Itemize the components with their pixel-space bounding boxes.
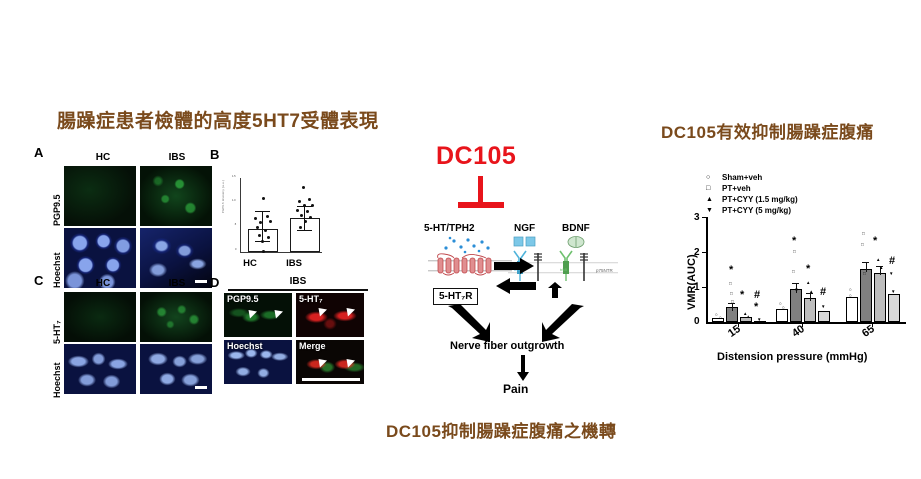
panel-c-row-5ht7: 5-HT₇: [52, 296, 62, 344]
bottom-caption: DC105抑制腸躁症腹痛之機轉: [386, 417, 616, 442]
sig-hash-15-pt-cyy-5: #: [754, 290, 760, 301]
panel-d-label-merge: Merge: [299, 341, 326, 351]
bar-65-pt-cyy-15: [874, 273, 886, 322]
y-tick-1: 1: [694, 282, 700, 293]
sig-star-40-pt-veh: *: [792, 236, 796, 247]
panel-b-cat-ibs: IBS: [272, 258, 316, 269]
legend-label-pt-cyy-5: PT+CYY (5 mg/kg): [722, 206, 791, 215]
sig-star2-15-pt-cyy-5: *: [754, 302, 758, 313]
panel-d-group-header: IBS: [228, 276, 368, 287]
serotonin-source-label: 5-HT/TPH2: [424, 223, 475, 234]
bar-15-sham-veh: [712, 318, 724, 322]
inhibition-bar: [458, 202, 504, 208]
panel-b-chart: 1.5 1.0 .5 0 PGP9.5 intensity (a.u.): [214, 174, 324, 260]
panel-c-col-hc: HC: [70, 278, 136, 289]
panel-d-label-pgp95: PGP9.5: [227, 294, 259, 304]
arrow-up-icon: [548, 282, 562, 298]
panel-a-col-hc: HC: [70, 152, 136, 163]
y-axis-line: [706, 217, 708, 323]
ngf-dimer-icon: [512, 236, 550, 248]
panel-d-header-rule: [228, 289, 368, 291]
panel-d-image-hoechst: Hoechst: [224, 340, 292, 384]
panel-d-image-pgp95: PGP9.5: [224, 293, 292, 337]
legend-marker-pt-cyy-5: ▼: [706, 207, 713, 214]
panel-a-row-pgp95: PGP9.5: [52, 172, 62, 226]
y-tick-0: 0: [694, 316, 700, 327]
nerve-fiber-outgrowth-label: Nerve fiber outgrowth: [450, 340, 564, 352]
pain-endpoint-label: Pain: [503, 382, 528, 396]
legend-marker-pt-cyy-15: ▲: [706, 196, 713, 203]
panel-d-image-merge: Merge: [296, 340, 364, 384]
sig-hash-40-pt-cyy-5: #: [820, 287, 826, 298]
inhibition-stem: [478, 176, 483, 204]
panel-a-row-hoechst: Hoechst: [52, 234, 62, 288]
scale-bar: [195, 386, 207, 389]
sig-hash-65-pt-cyy-5: #: [889, 256, 895, 267]
panel-c-image-hc-5ht7: [64, 292, 136, 342]
arrow-left-icon: [494, 278, 536, 294]
legend-label-pt-veh: PT+veh: [722, 184, 751, 193]
x-cat-15: 15: [726, 323, 743, 340]
arrow-diagonal-right-icon: [540, 304, 586, 342]
legend-marker-sham-veh: ○: [706, 174, 710, 181]
legend-label-pt-cyy-15: PT+CYY (1.5 mg/kg): [722, 195, 798, 204]
panel-b-bar-ibs: [290, 218, 320, 252]
left-panel-title: 腸躁症患者檢體的高度5HT7受體表現: [57, 106, 378, 133]
panel-d-letter: D: [210, 276, 219, 289]
y-tick-3: 3: [694, 212, 700, 223]
panel-d-label-hoechst: Hoechst: [227, 341, 263, 351]
panel-a-image-hc-pgp95: [64, 166, 136, 226]
panel-a-letter: A: [34, 146, 43, 159]
bar-65-pt-veh: [860, 269, 872, 322]
ngf-label: NGF: [514, 223, 535, 234]
x-axis-title: Distension pressure (mmHg): [717, 351, 867, 363]
right-panel-title: DC105有效抑制腸躁症腹痛: [661, 118, 874, 143]
bdnf-dimer-icon: [566, 236, 592, 248]
panel-d-image-5ht7: 5-HT₇: [296, 293, 364, 337]
legend-marker-pt-veh: □: [706, 185, 710, 192]
svg-text:trkB: trkB: [560, 267, 567, 272]
receptor-box-5ht7r: 5-HT₇R: [433, 288, 478, 305]
panel-c-image-ibs-5ht7: [140, 292, 212, 342]
arrow-down-icon: [516, 355, 530, 381]
bar-65-pt-cyy-5: [888, 294, 900, 322]
arrow-right-icon: [494, 258, 536, 274]
svg-text:p75NTR: p75NTR: [596, 268, 614, 273]
panel-b-cat-hc: HC: [228, 258, 272, 269]
panel-c-letter: C: [34, 274, 43, 287]
panel-a-col-ibs: IBS: [144, 152, 210, 163]
y-tick-2: 2: [694, 247, 700, 258]
bar-40-pt-cyy-5: [818, 311, 830, 322]
scale-bar: [302, 378, 360, 381]
bar-40-sham-veh: [776, 309, 788, 322]
bar-65-sham-veh: [846, 297, 858, 322]
panel-d-label-5ht7: 5-HT₇: [299, 294, 323, 304]
scale-bar: [195, 280, 207, 283]
legend-label-sham-veh: Sham+veh: [722, 173, 762, 182]
sig-star-15-pt-veh: *: [729, 265, 733, 276]
sig-star-40-pt-cyy-15: *: [806, 264, 810, 275]
x-cat-65: 65: [860, 323, 877, 340]
dc105-drug-label: DC105: [436, 142, 516, 171]
sig-star-15-pt-cyy-15: *: [740, 290, 744, 301]
bdnf-label: BDNF: [562, 223, 590, 234]
panel-c-image-ibs-hoechst: [140, 344, 212, 394]
panel-b-letter: B: [210, 148, 219, 161]
arrow-diagonal-left-icon: [446, 304, 492, 342]
x-cat-40: 40: [790, 323, 807, 340]
vmr-axis-label: VMR(AUC): [686, 250, 698, 310]
bar-40-pt-cyy-15: [804, 298, 816, 322]
panel-a-image-ibs-pgp95: [140, 166, 212, 226]
panel-c-image-hc-hoechst: [64, 344, 136, 394]
panel-b-ylabel: PGP9.5 intensity (a.u.): [222, 180, 225, 213]
bar-40-pt-veh: [790, 289, 802, 322]
sig-star-65-pt-veh: *: [873, 236, 877, 247]
panel-c-row-hoechst: Hoechst: [52, 350, 62, 398]
